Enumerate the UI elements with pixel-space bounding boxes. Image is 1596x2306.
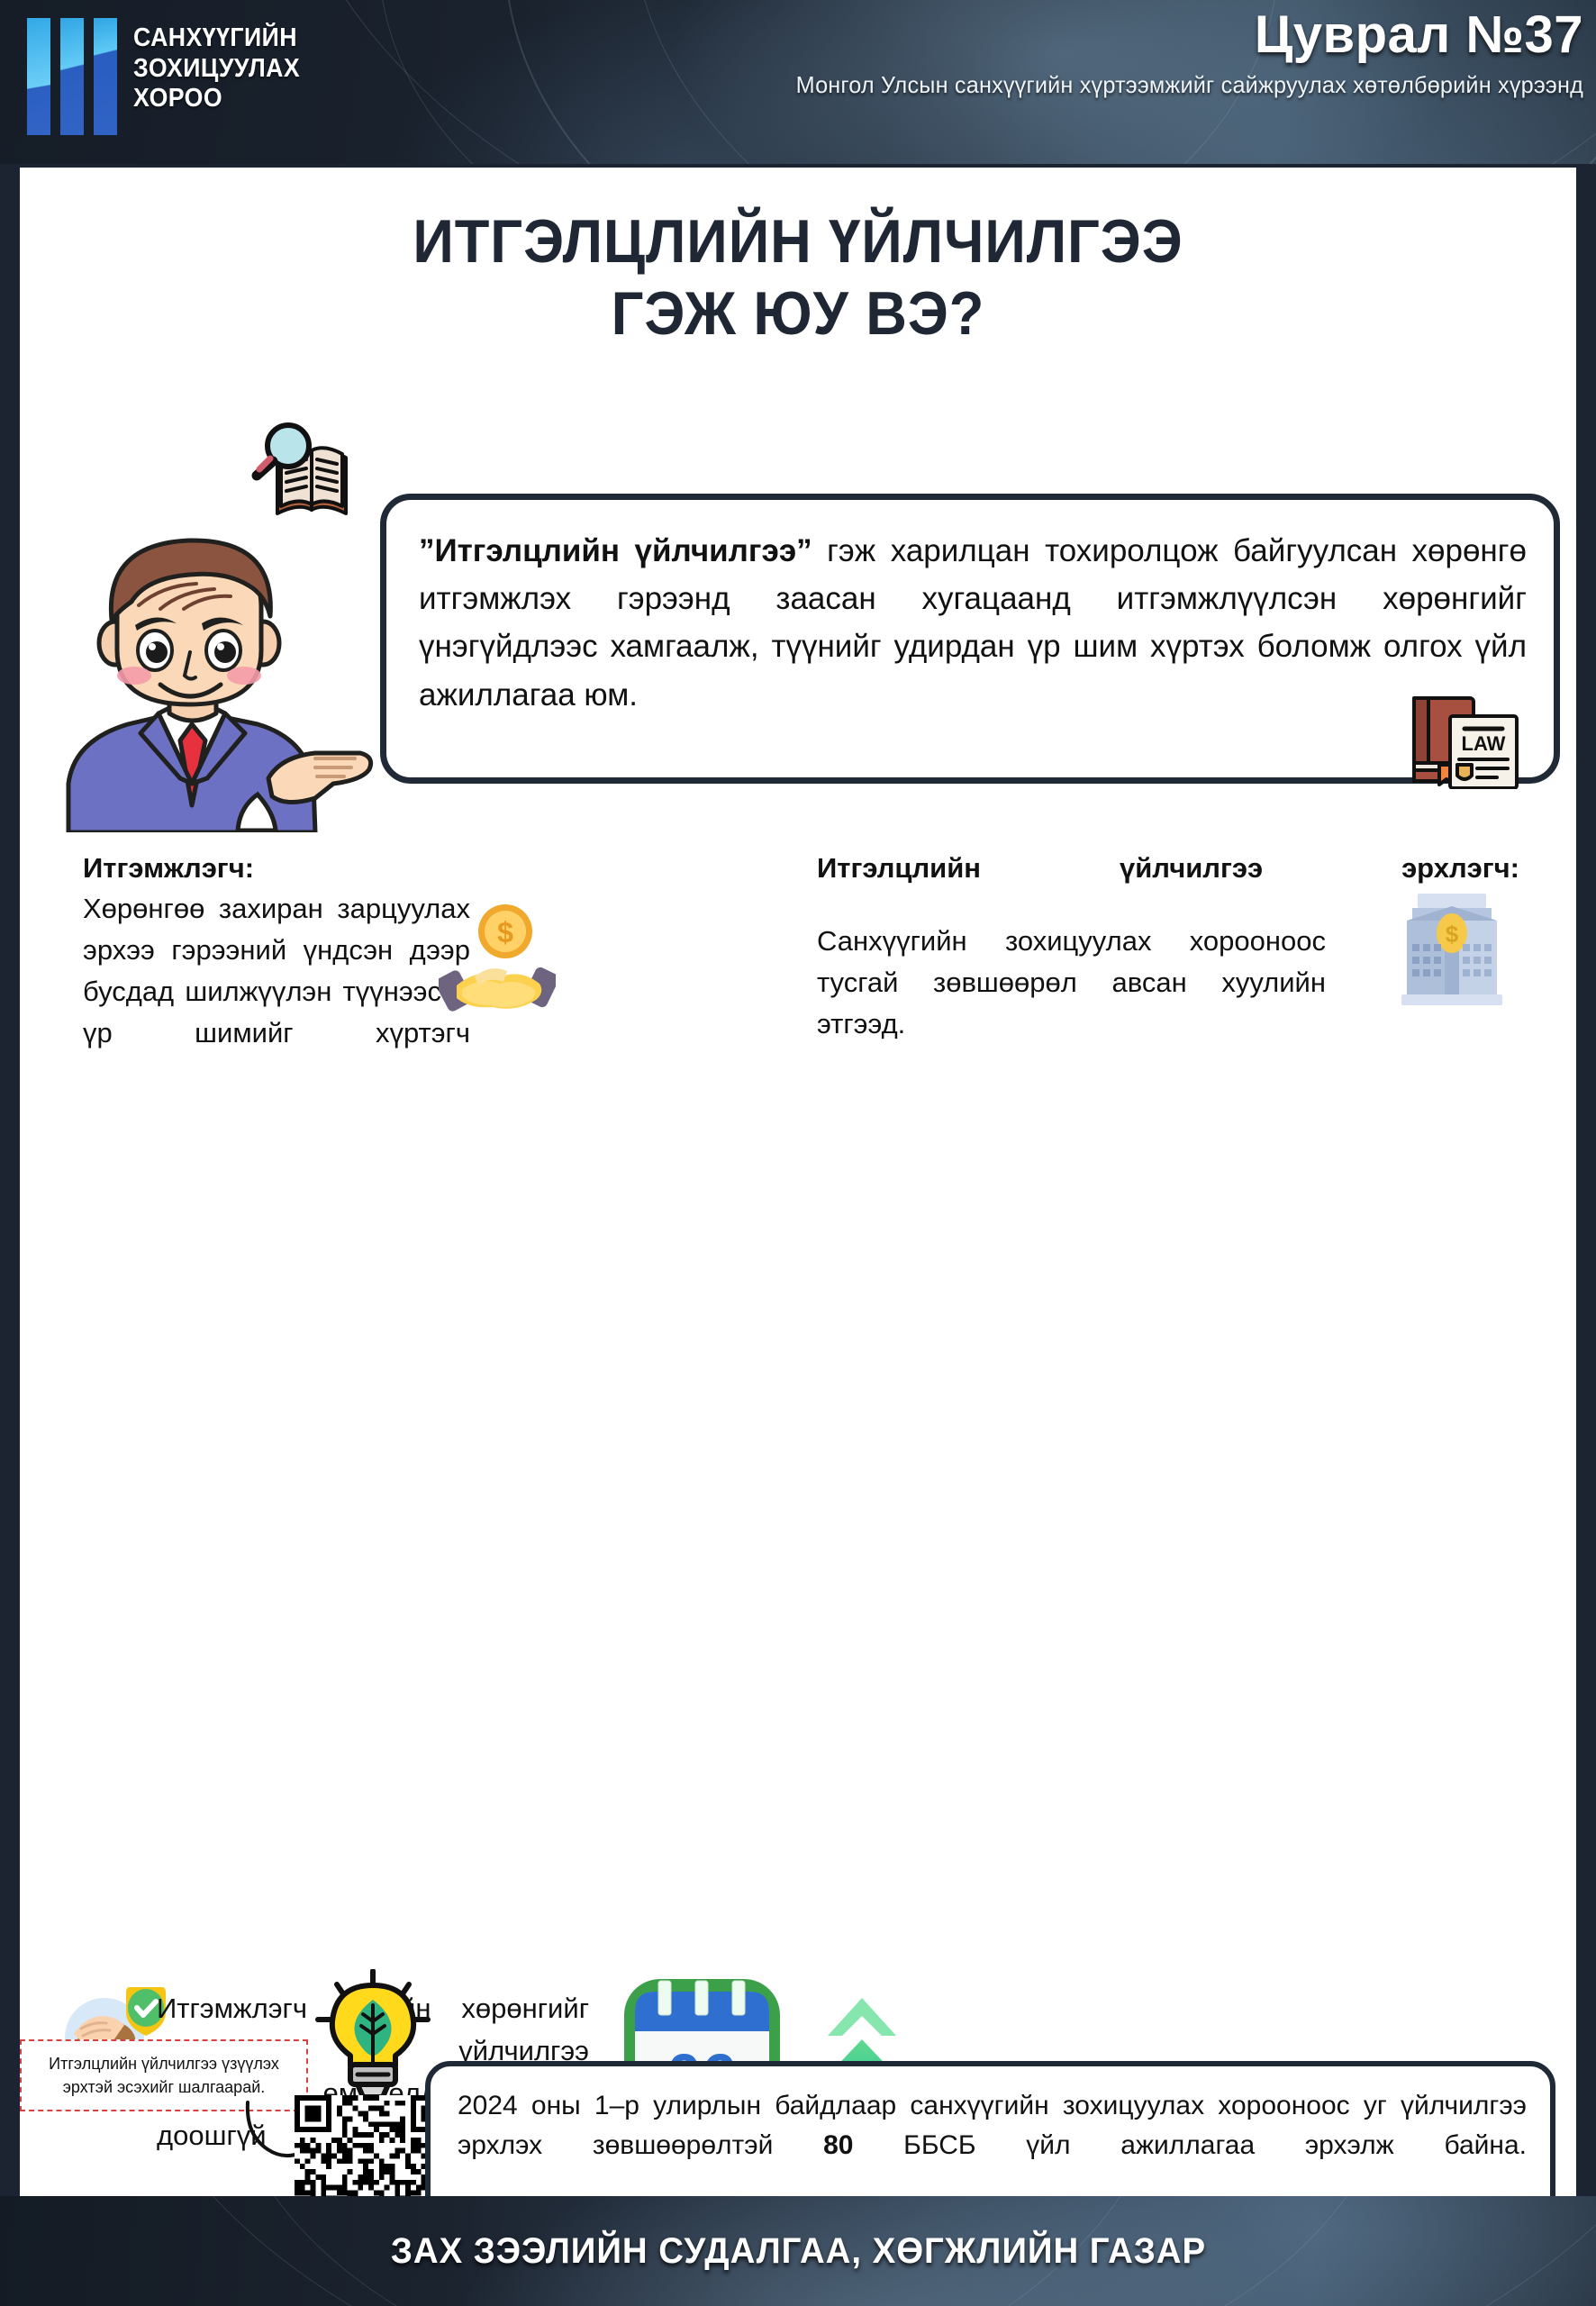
header-title-block: Цуврал №37 Монгол Улсын санхүүгийн хүртэ… — [593, 5, 1583, 99]
page-title: ИТГЭЛЦЛИЙН ҮЙЛЧИЛГЭЭ ГЭЖ ЮУ ВЭ? — [20, 205, 1576, 350]
column-provider-body: Санхүүгийн зохицуулах хороонoос тусгай з… — [817, 921, 1326, 1086]
footer-department-name: ЗАХ ЗЭЭЛИЙН СУДАЛГАА, ХӨГЖЛИЙН ГАЗАР — [390, 2231, 1205, 2272]
statistics-part2: ББСБ үйл ажиллагаа эрхэлж байна. — [853, 2130, 1527, 2160]
logo-text: САНХҮҮГИЙН ЗОХИЦУУЛАХ ХОРОО — [133, 18, 300, 114]
svg-text:$: $ — [1446, 921, 1459, 948]
page-title-line-1: ИТГЭЛЦЛИЙН ҮЙЛЧИЛГЭЭ — [74, 205, 1521, 277]
definition-text: ”Итгэлцлийн үйлчилгээ” гэж харилцан тохи… — [419, 527, 1527, 719]
column-trustor-body: Хөрөнгөө захиран зарцуулах эрхээ гэрээни… — [83, 888, 470, 1094]
svg-text:LAW: LAW — [1462, 732, 1506, 755]
page-title-line-2: ГЭЖ ЮУ ВЭ? — [74, 277, 1521, 350]
statistics-count: 80 — [823, 2130, 853, 2160]
verification-note-text: Итгэлцлийн үйлчилгээ үзүүлэх эрхтэй эсэх… — [29, 2052, 299, 2099]
svg-text:$: $ — [497, 916, 513, 949]
series-title: Цуврал №37 — [593, 5, 1583, 66]
definition-bubble: ”Итгэлцлийн үйлчилгээ” гэж харилцан тохи… — [380, 494, 1560, 784]
frc-logo-icon — [27, 18, 117, 135]
column-trustor-heading: Итгэмжлэгч: — [83, 852, 731, 885]
page-footer: ЗАХ ЗЭЭЛИЙН СУДАЛГАА, ХӨГЖЛИЙН ГАЗАР — [0, 2196, 1596, 2306]
law-book-icon: LAW — [1407, 695, 1524, 789]
column-trustor: Итгэмжлэгч: Хөрөнгөө захиран зарцуулах э… — [83, 852, 731, 1094]
organization-logo: САНХҮҮГИЙН ЗОХИЦУУЛАХ ХОРОО — [27, 18, 314, 135]
coin-handshake-icon: $ — [439, 899, 556, 1012]
bank-building-icon: $ — [1398, 888, 1506, 1010]
statistics-text: 2024 оны 1–р улирлын байдлаар санхүүгийн… — [458, 2086, 1527, 2206]
logo-text-line-3: ХОРОО — [133, 84, 300, 114]
definition-term: ”Итгэлцлийн үйлчилгээ” — [419, 533, 812, 568]
page-header: САНХҮҮГИЙН ЗОХИЦУУЛАХ ХОРОО Цуврал №37 М… — [0, 0, 1596, 164]
logo-text-line-2: ЗОХИЦУУЛАХ — [133, 54, 300, 85]
bottom-section: Итгэлцлийн үйлчилгээ үзүүлэх эрхтэй эсэх… — [20, 1068, 1576, 1447]
series-subtitle: Монгол Улсын санхүүгийн хүртээмжийг сайж… — [622, 71, 1583, 99]
businessman-character-illustration — [45, 508, 378, 832]
content-sheet: ИТГЭЛЦЛИЙН ҮЙЛЧИЛГЭЭ ГЭЖ ЮУ ВЭ? — [20, 168, 1576, 2196]
lightbulb-eco-icon — [313, 1969, 434, 2100]
logo-text-line-1: САНХҮҮГИЙН — [133, 23, 300, 54]
